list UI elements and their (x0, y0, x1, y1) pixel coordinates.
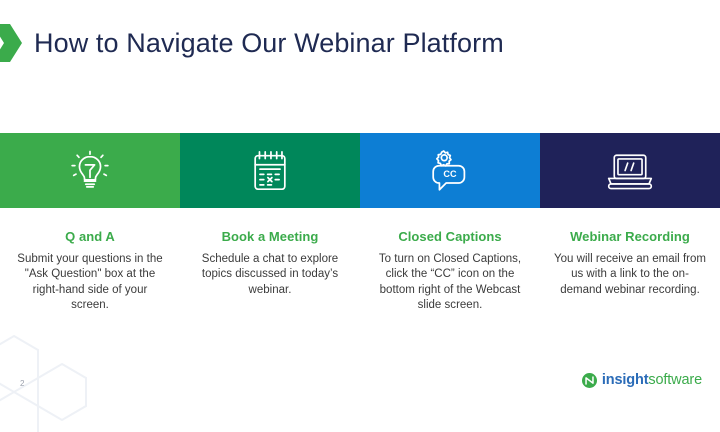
column-title: Q and A (14, 229, 166, 245)
laptop-icon (605, 150, 655, 192)
logo-wordmark: insightsoftware (602, 372, 702, 388)
column-title: Closed Captions (374, 229, 526, 245)
hexagon-watermark (0, 312, 122, 432)
column-book-a-meeting: Book a Meeting Schedule a chat to explor… (180, 208, 360, 314)
column-body: You will receive an email from us with a… (554, 252, 706, 298)
column-webinar-recording: Webinar Recording You will receive an em… (540, 208, 720, 314)
calendar-icon (248, 148, 292, 194)
panel-closed-captions: CC (360, 133, 540, 208)
logo-text-software: software (648, 372, 702, 388)
lightbulb-icon (67, 148, 113, 194)
column-body: Schedule a chat to explore topics discus… (194, 252, 346, 298)
logo-text-insight: insight (602, 372, 648, 388)
svg-text:CC: CC (443, 169, 457, 179)
column-body: To turn on Closed Captions, click the “C… (374, 252, 526, 314)
column-title: Book a Meeting (194, 229, 346, 245)
panel-book-a-meeting (180, 133, 360, 208)
column-qanda: Q and A Submit your questions in the "As… (0, 208, 180, 314)
closed-captions-icon: CC (426, 147, 474, 195)
insightsoftware-logo: insightsoftware (582, 372, 702, 388)
slide-header: How to Navigate Our Webinar Platform (0, 0, 720, 133)
panel-webinar-recording (540, 133, 720, 208)
panel-qanda (0, 133, 180, 208)
column-body: Submit your questions in the "Ask Questi… (14, 252, 166, 314)
icon-band: CC (0, 133, 720, 208)
column-closed-captions: Closed Captions To turn on Closed Captio… (360, 208, 540, 314)
chevron-marker-icon (0, 24, 22, 62)
panel-text-columns: Q and A Submit your questions in the "As… (0, 208, 720, 314)
page-title: How to Navigate Our Webinar Platform (34, 23, 504, 63)
column-title: Webinar Recording (554, 229, 706, 245)
page-number: 2 (20, 379, 25, 388)
insightsoftware-mark-icon (582, 373, 597, 388)
